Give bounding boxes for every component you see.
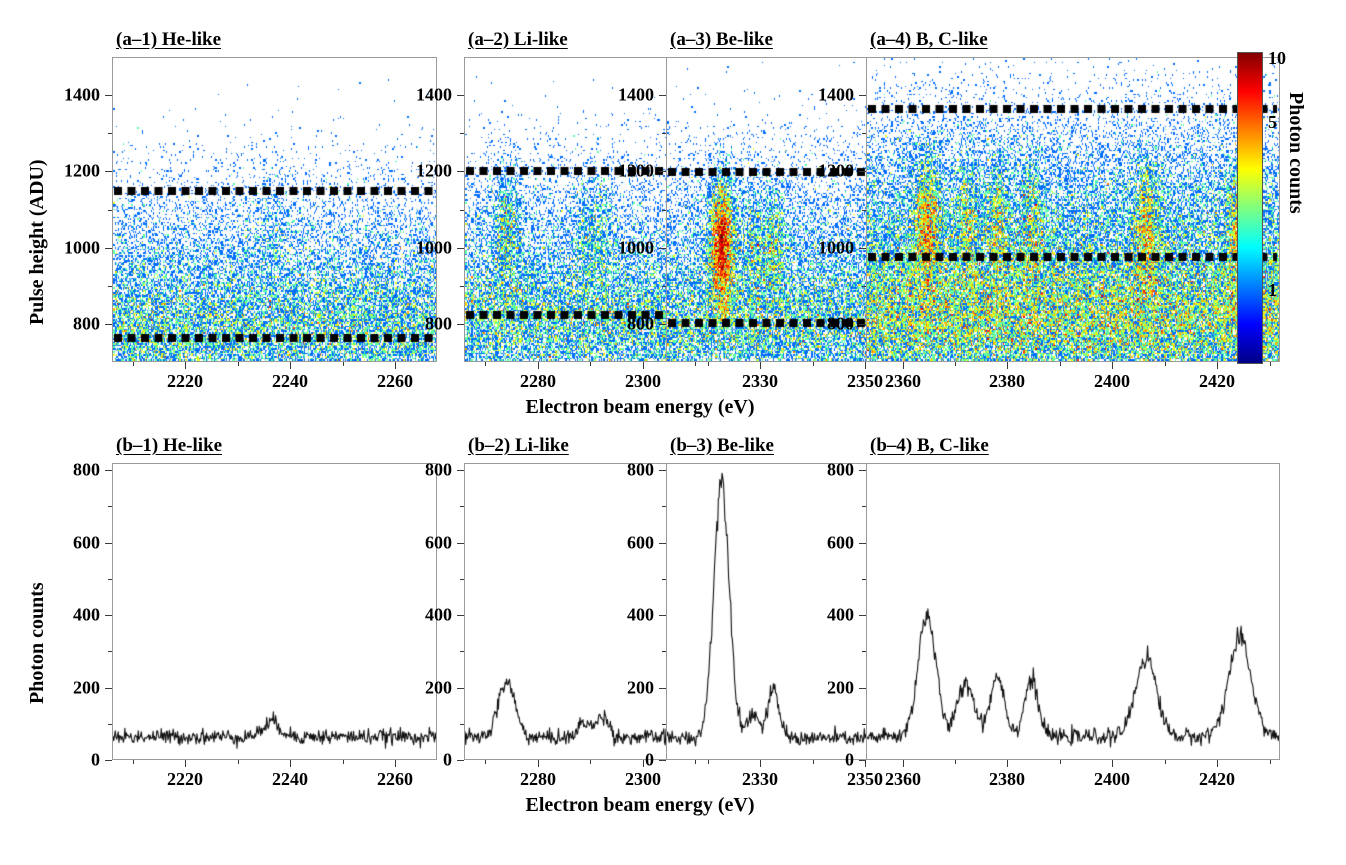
axis-tick [865,362,866,369]
axis-tick [859,95,866,96]
xtick-label: 2400 [1094,769,1130,790]
xtick-label: 2350 [847,769,883,790]
ytick-label: 800 [34,314,100,335]
xtick-label: 2280 [520,371,556,392]
axis-tick [813,362,814,366]
top-xaxis-title: Electron beam energy (eV) [0,396,1280,419]
axis-tick [460,579,464,580]
ytick-label: 200 [386,678,452,699]
axis-tick [457,543,464,544]
axis-tick [108,651,112,652]
xtick-label: 2300 [625,769,661,790]
axis-tick [859,248,866,249]
axis-tick [659,171,666,172]
axis-tick [108,506,112,507]
ytick-label: 1200 [386,161,452,182]
axis-tick [185,760,186,767]
panel-title-a4: (a–4) B, C-like [870,29,988,51]
colorbar-tick-5: 5 [1268,112,1277,133]
xtick-label: 2420 [1199,769,1235,790]
ytick-label: 800 [788,314,854,335]
spectrum-canvas-b4 [867,464,1279,759]
axis-tick [590,362,591,366]
axis-tick [105,760,112,761]
axis-tick [859,543,866,544]
axis-tick [662,579,666,580]
axis-tick [460,133,464,134]
axis-tick [643,362,644,369]
ytick-label: 200 [34,678,100,699]
ytick-label: 800 [34,460,100,481]
axis-tick [862,651,866,652]
xtick-label: 2330 [742,371,778,392]
ytick-label: 1200 [34,161,100,182]
axis-tick [1270,760,1271,764]
ytick-label: 1200 [588,161,654,182]
axis-tick [1060,362,1061,366]
axis-tick [859,615,866,616]
ytick-label: 0 [788,750,854,771]
ytick-label: 0 [34,750,100,771]
axis-tick [859,171,866,172]
xtick-label: 2400 [1094,371,1130,392]
axis-tick [108,286,112,287]
axis-tick [1217,362,1218,369]
axis-tick [1007,760,1008,767]
axis-tick [1112,362,1113,369]
axis-tick [659,324,666,325]
axis-tick [460,506,464,507]
axis-tick [105,171,112,172]
ytick-label: 800 [588,460,654,481]
axis-tick [105,615,112,616]
ytick-label: 800 [788,460,854,481]
axis-tick [105,248,112,249]
xtick-label: 2220 [167,371,203,392]
ytick-label: 400 [34,605,100,626]
axis-tick [903,760,904,767]
ytick-label: 1400 [34,85,100,106]
ytick-label: 1200 [788,161,854,182]
axis-tick [133,760,134,764]
ytick-label: 400 [386,605,452,626]
axis-tick [662,133,666,134]
xtick-label: 2260 [377,371,413,392]
axis-tick [859,760,866,761]
axis-tick [695,760,696,764]
xtick-label: 2350 [847,371,883,392]
ytick-label: 1400 [386,85,452,106]
axis-tick [955,760,956,764]
colorbar-tick-10: 10 [1268,48,1286,69]
axis-tick [105,95,112,96]
ytick-label: 0 [588,750,654,771]
xtick-label: 2240 [272,371,308,392]
xtick-label: 2260 [377,769,413,790]
axis-tick [708,760,709,764]
axis-tick [185,362,186,369]
axis-tick [662,286,666,287]
panel-title-b4: (b–4) B, C-like [870,435,989,457]
xtick-label: 2240 [272,769,308,790]
ytick-label: 1000 [34,238,100,259]
ytick-label: 1000 [386,238,452,259]
axis-tick [659,248,666,249]
axis-tick [862,724,866,725]
xtick-label: 2220 [167,769,203,790]
axis-tick [862,133,866,134]
ytick-label: 800 [386,460,452,481]
axis-tick [108,210,112,211]
ytick-label: 800 [386,314,452,335]
axis-tick [903,362,904,369]
ytick-label: 400 [788,605,854,626]
axis-tick [343,760,344,764]
axis-tick [859,470,866,471]
axis-tick [105,688,112,689]
axis-tick [865,760,866,767]
axis-tick [105,470,112,471]
axis-tick [460,651,464,652]
axis-tick [538,362,539,369]
ytick-label: 600 [588,533,654,554]
axis-tick [485,760,486,764]
axis-tick [460,210,464,211]
axis-tick [485,362,486,366]
panel-title-a3: (a–3) Be-like [670,29,773,51]
bottom-xaxis-title: Electron beam energy (eV) [0,794,1280,817]
axis-tick [108,133,112,134]
axis-tick [1217,760,1218,767]
axis-tick [862,210,866,211]
ytick-label: 400 [588,605,654,626]
axis-tick [659,688,666,689]
axis-tick [538,760,539,767]
axis-tick [1165,760,1166,764]
axis-tick [955,362,956,366]
panel-title-a2: (a–2) Li-like [468,29,568,51]
axis-tick [1112,760,1113,767]
ytick-label: 1000 [588,238,654,259]
axis-tick [862,579,866,580]
xtick-label: 2280 [520,769,556,790]
axis-tick [1270,362,1271,366]
axis-tick [659,760,666,761]
axis-tick [1165,362,1166,366]
ytick-label: 600 [386,533,452,554]
axis-tick [1060,760,1061,764]
xtick-label: 2360 [885,769,921,790]
xtick-label: 2300 [625,371,661,392]
figure-root: (a–1) He-like (a–2) Li-like (a–3) Be-lik… [0,0,1346,865]
xtick-label: 2330 [742,769,778,790]
axis-tick [760,760,761,767]
xtick-label: 2380 [989,769,1025,790]
axis-tick [460,724,464,725]
axis-tick [238,362,239,366]
ytick-label: 800 [588,314,654,335]
axis-tick [457,248,464,249]
ytick-label: 200 [788,678,854,699]
ytick-label: 600 [34,533,100,554]
colorbar-tick-1: 1 [1268,280,1277,301]
ytick-label: 0 [386,750,452,771]
colorbar-frame [1237,52,1263,364]
axis-tick [343,362,344,366]
panel-title-b1: (b–1) He-like [116,435,222,457]
xtick-label: 2360 [885,371,921,392]
ytick-label: 200 [588,678,654,699]
axis-tick [457,171,464,172]
axis-tick [238,760,239,764]
panel-title-b2: (b–2) Li-like [468,435,569,457]
axis-tick [662,724,666,725]
heatmap-canvas-a4 [867,58,1279,361]
ytick-label: 600 [788,533,854,554]
axis-tick [457,470,464,471]
axis-tick [708,362,709,366]
xtick-label: 2420 [1199,371,1235,392]
axis-tick [105,324,112,325]
axis-tick [659,470,666,471]
axis-tick [457,95,464,96]
axis-tick [457,688,464,689]
axis-tick [108,579,112,580]
axis-tick [290,362,291,369]
axis-tick [290,760,291,767]
axis-tick [460,286,464,287]
axis-tick [457,760,464,761]
colorbar-title: Photon counts [1284,92,1307,214]
ytick-label: 1000 [788,238,854,259]
panel-title-b3: (b–3) Be-like [670,435,774,457]
axis-tick [1007,362,1008,369]
axis-tick [859,324,866,325]
panel-title-a1: (a–1) He-like [116,29,221,51]
axis-tick [105,543,112,544]
axis-tick [659,543,666,544]
axis-tick [859,688,866,689]
ytick-label: 1400 [588,85,654,106]
axis-tick [862,506,866,507]
axis-tick [760,362,761,369]
axis-tick [395,362,396,369]
axis-tick [662,651,666,652]
axis-tick [659,615,666,616]
axis-tick [695,362,696,366]
axis-tick [662,210,666,211]
axis-tick [108,724,112,725]
axis-tick [133,362,134,366]
axis-tick [457,324,464,325]
axis-tick [662,506,666,507]
ytick-label: 1400 [788,85,854,106]
axis-tick [862,286,866,287]
xtick-label: 2380 [989,371,1025,392]
axis-tick [457,615,464,616]
axis-tick [659,95,666,96]
